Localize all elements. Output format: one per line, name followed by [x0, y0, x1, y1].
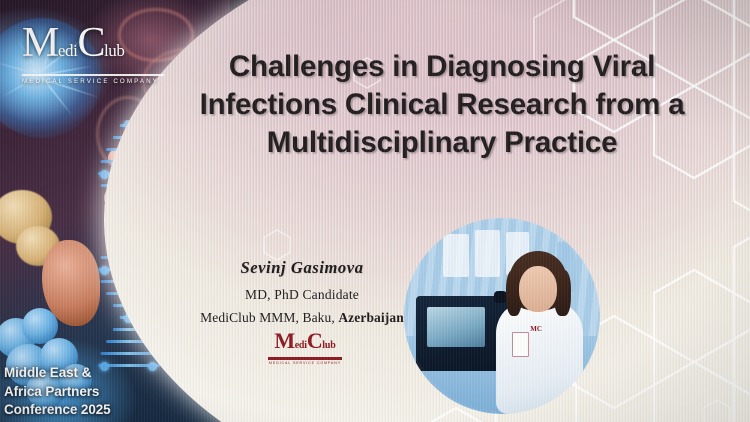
- mediclub-logo-wordmark: MediClub: [22, 22, 168, 72]
- speaker-affiliation: MediClub MMM, Baku, Azerbaijan: [178, 310, 426, 326]
- photo-person: MC: [494, 249, 584, 414]
- photo-monitor-screen: [427, 307, 485, 347]
- logo-divider-bar: [268, 357, 342, 360]
- photo-id-badge: [512, 332, 528, 357]
- photo-face: [519, 266, 557, 312]
- logo-letter-c: C: [307, 328, 322, 353]
- title-line-3: Multidisciplinary Practice: [178, 124, 706, 162]
- photo-lab-coat: [496, 302, 583, 414]
- conference-line-2: Africa Partners: [4, 383, 154, 402]
- mediclub-logo-center: MediClub MEDICAL SERVICE COMPANY: [262, 330, 348, 365]
- affiliation-country: Azerbaijan: [338, 310, 404, 325]
- title-line-1: Challenges in Diagnosing Viral: [178, 48, 706, 86]
- logo-word-edi: edi: [295, 340, 307, 351]
- logo-letter-m: M: [22, 20, 58, 66]
- mediclub-logo-tagline: MEDICAL SERVICE COMPANY: [22, 78, 168, 85]
- mediclub-logo-center-wordmark: MediClub: [262, 330, 348, 356]
- affiliation-institution: MediClub MMM, Baku,: [200, 310, 338, 325]
- speaker-photo: MC: [404, 218, 600, 414]
- logo-divider-bar: [22, 74, 164, 76]
- conference-line-3: Conference 2025: [4, 401, 154, 420]
- logo-letter-c: C: [77, 20, 104, 66]
- logo-word-edi: edi: [58, 41, 78, 60]
- presentation-slide: Challenges in Diagnosing Viral Infection…: [0, 0, 750, 422]
- mediclub-logo-top-left: MediClub MEDICAL SERVICE COMPANY: [22, 22, 168, 85]
- conference-name: Middle East & Africa Partners Conference…: [4, 364, 154, 420]
- logo-letter-m: M: [274, 328, 294, 353]
- title-line-2: Infections Clinical Research from a: [178, 86, 706, 124]
- slide-title: Challenges in Diagnosing Viral Infection…: [178, 48, 706, 162]
- speaker-name: Sevinj Gasimova: [178, 258, 426, 278]
- photo-shelf-item: [443, 234, 468, 277]
- speaker-info-block: Sevinj Gasimova MD, PhD Candidate MediCl…: [178, 258, 426, 326]
- conference-line-1: Middle East &: [4, 364, 154, 383]
- speaker-role: MD, PhD Candidate: [178, 287, 426, 303]
- mediclub-logo-center-tagline: MEDICAL SERVICE COMPANY: [262, 361, 348, 365]
- photo-coat-logo: MC: [530, 325, 550, 340]
- logo-word-lub: lub: [104, 41, 125, 60]
- logo-word-lub: lub: [322, 340, 335, 351]
